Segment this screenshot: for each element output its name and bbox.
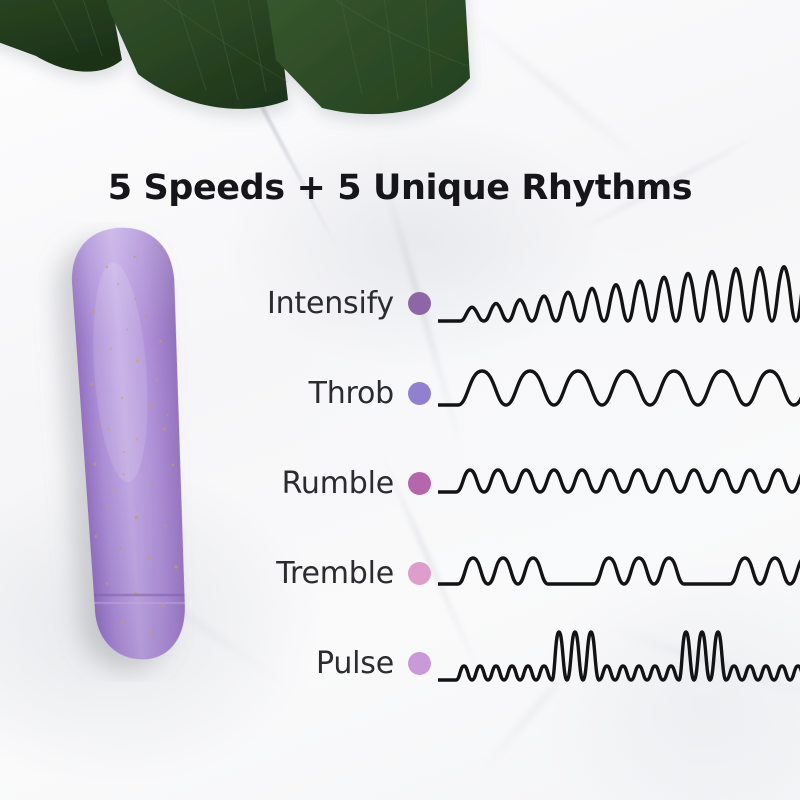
rhythm-row-tremble[interactable]: Tremble xyxy=(0,528,800,618)
page-title: 5 Speeds + 5 Unique Rhythms xyxy=(0,168,800,208)
rhythm-row-pulse[interactable]: Pulse xyxy=(0,618,800,708)
rhythm-wave-pulse xyxy=(438,618,800,708)
rhythm-label-rumble: Rumble xyxy=(0,466,408,501)
leaf-lobe-right xyxy=(258,0,470,114)
rhythm-list: Intensify Throb Rumble xyxy=(0,258,800,708)
rhythm-label-pulse: Pulse xyxy=(0,646,408,681)
rhythm-wave-tremble xyxy=(438,528,800,618)
rhythm-row-intensify[interactable]: Intensify xyxy=(0,258,800,348)
monstera-leaf xyxy=(0,0,490,162)
rhythm-dot-tremble xyxy=(408,562,431,585)
rhythm-label-intensify: Intensify xyxy=(0,286,408,321)
rhythm-label-tremble: Tremble xyxy=(0,556,408,591)
rhythm-label-throb: Throb xyxy=(0,376,408,411)
rhythm-dot-pulse xyxy=(408,652,431,675)
leaf-lobe-left xyxy=(0,0,122,72)
rhythm-dot-rumble xyxy=(408,472,431,495)
rhythm-dot-throb xyxy=(408,382,431,405)
product-infographic: 5 Speeds + 5 Unique Rhythms Intensify Th… xyxy=(0,0,800,800)
rhythm-row-rumble[interactable]: Rumble xyxy=(0,438,800,528)
rhythm-row-throb[interactable]: Throb xyxy=(0,348,800,438)
rhythm-wave-throb xyxy=(438,348,800,438)
rhythm-wave-rumble xyxy=(438,438,800,528)
rhythm-dot-intensify xyxy=(408,292,431,315)
rhythm-wave-intensify xyxy=(438,258,800,348)
